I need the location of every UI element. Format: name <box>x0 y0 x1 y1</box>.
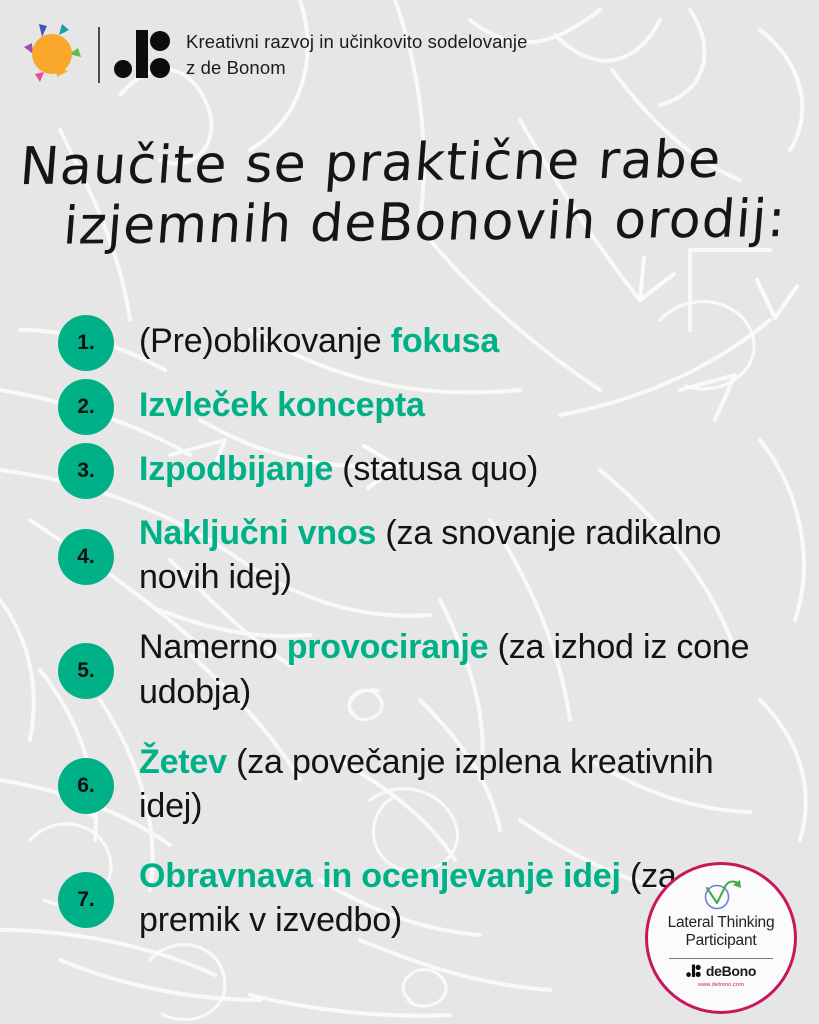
list-item-text: Namerno provociranje (za izhod iz cone u… <box>139 621 758 713</box>
list-item-keyword: provociranje <box>287 628 489 666</box>
debono-logo-mark <box>114 28 170 82</box>
debono-logo-mark <box>686 964 701 978</box>
list-item: 5.Namerno provociranje (za izhod iz cone… <box>58 621 758 713</box>
list-item: 1.(Pre)oblikovanje fokusa <box>58 315 758 371</box>
seal-brand-name: deBono <box>706 963 756 979</box>
list-item-number-badge: 1. <box>58 315 114 371</box>
list-item-text: Izvleček koncepta <box>139 379 425 427</box>
list-item-keyword: Izvleček koncepta <box>139 386 425 424</box>
headline-line-2: izjemnih deBonovih orodij: <box>61 188 809 260</box>
list-item-text: Izpodbijanje (statusa quo) <box>139 443 538 491</box>
list-item-number-badge: 3. <box>58 443 114 499</box>
list-item-keyword: Izpodbijanje <box>139 450 333 488</box>
seal-title-line2: Participant <box>685 932 756 950</box>
list-item-number-badge: 4. <box>58 529 114 585</box>
list-item-text: Žetev (za povečanje izplena kreativnih i… <box>139 736 758 828</box>
list-item-number-badge: 6. <box>58 758 114 814</box>
header-title: Kreativni razvoj in učinkovito sodelovan… <box>186 29 528 82</box>
list-item-text: (Pre)oblikovanje fokusa <box>139 315 499 363</box>
list-item-plaintext: (Pre)oblikovanje <box>139 322 391 360</box>
lateral-thinking-participant-seal: Lateral Thinking Participant deBono www.… <box>645 862 797 1014</box>
seal-divider <box>669 958 773 959</box>
list-item-keyword: fokusa <box>391 322 499 360</box>
tools-list: 1.(Pre)oblikovanje fokusa2.Izvleček konc… <box>58 315 758 951</box>
lateral-thinking-arrow-icon <box>699 877 743 911</box>
header-divider <box>98 27 100 83</box>
list-item-plaintext: Namerno <box>139 628 287 666</box>
list-item: 6.Žetev (za povečanje izplena kreativnih… <box>58 736 758 828</box>
list-item-text: Naključni vnos (za snovanje radikalno no… <box>139 507 758 599</box>
list-item-keyword: Obravnava in ocenjevanje idej <box>139 857 621 895</box>
seal-url: www.debono.com <box>698 982 744 988</box>
list-item: 4.Naključni vnos (za snovanje radikalno … <box>58 507 758 599</box>
header-title-line1: Kreativni razvoj in učinkovito sodelovan… <box>186 29 528 55</box>
sun-speech-bubble-icon <box>16 18 90 92</box>
page-title: Naučite se praktične rabe izjemnih deBon… <box>13 128 813 260</box>
list-item-number-badge: 5. <box>58 643 114 699</box>
brand-header: Kreativni razvoj in učinkovito sodelovan… <box>16 18 528 92</box>
list-item-keyword: Žetev <box>139 743 227 781</box>
list-item: 2.Izvleček koncepta <box>58 379 758 435</box>
seal-brand-row: deBono <box>686 963 756 979</box>
list-item-plaintext: (statusa quo) <box>333 450 538 488</box>
list-item-keyword: Naključni vnos <box>139 514 376 552</box>
list-item: 3.Izpodbijanje (statusa quo) <box>58 443 758 499</box>
list-item-number-badge: 7. <box>58 872 114 928</box>
header-title-line2: z de Bonom <box>186 55 528 81</box>
list-item-number-badge: 2. <box>58 379 114 435</box>
poster-canvas: Kreativni razvoj in učinkovito sodelovan… <box>0 0 819 1024</box>
seal-title-line1: Lateral Thinking <box>668 914 775 932</box>
